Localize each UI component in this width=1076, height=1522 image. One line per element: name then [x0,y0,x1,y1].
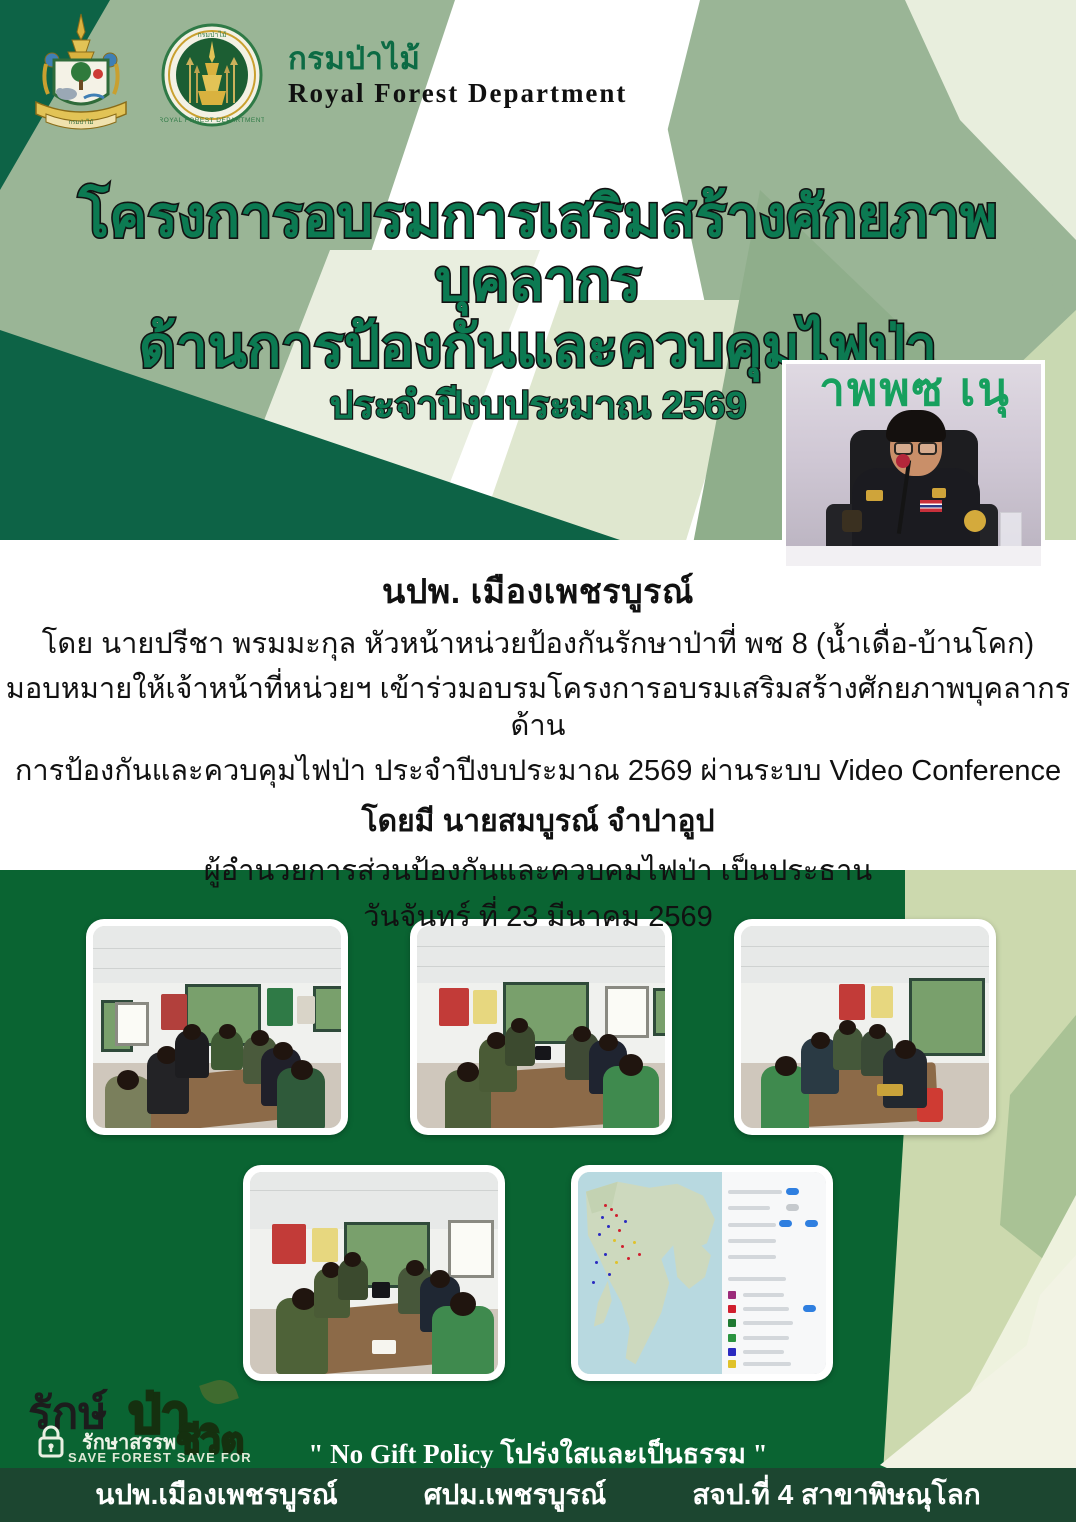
hotspot-dot [627,1257,630,1260]
legend-toggle[interactable] [786,1188,799,1195]
legend-row-label [743,1307,789,1311]
wall-poster-yellow [871,986,893,1018]
map-legend-panel [722,1172,826,1374]
legend-swatch [728,1319,736,1327]
wall-poster-red [272,1224,306,1264]
hotspot-dot [604,1253,607,1256]
portrait-rank-badge-left [866,490,883,501]
portrait-glasses-right [918,442,937,455]
legend-row-label [728,1206,770,1210]
chairperson-title: ผู้อำนวยการส่วนป้องกันและควบคมไฟป่า เป็น… [0,853,1076,890]
paper-document [372,1340,396,1354]
photo-5-content-hotspot-map [578,1172,826,1374]
royal-forest-department-seal-icon: กรมป่าไม้ ROYAL FOREST DEPARTMENT [160,23,264,127]
body-line-2: มอบหมายให้เจ้าหน้าที่หน่วยฯ เข้าร่วมอบรม… [0,671,1076,745]
gallery-photo-1[interactable] [86,919,348,1135]
ceiling-line [741,966,989,967]
person-head [157,1046,177,1064]
laptop [535,1046,551,1060]
hotspot-dot [621,1245,624,1248]
gallery-photo-4[interactable] [243,1165,505,1381]
wall-map [605,986,649,1038]
legend-row-label [743,1293,785,1297]
laptop [372,1282,390,1298]
gallery-photo-2[interactable] [410,919,672,1135]
person-head [487,1032,506,1049]
legend-swatch [728,1305,736,1313]
ceiling-line [93,948,341,949]
legend-toggle[interactable] [803,1305,816,1312]
wall-poster-red [161,994,187,1030]
person-head [457,1062,479,1082]
room-window-right [653,988,665,1036]
gallery-photo-3[interactable] [734,919,996,1135]
legend-swatch [728,1348,736,1356]
wall-poster-red [439,988,469,1026]
wall-poster-green [267,988,293,1026]
event-date: วันจันทร์ ที่ 23 มีนาคม 2569 [0,899,1076,936]
wall-poster-yellow [473,990,497,1024]
portrait-rank-badge-right [932,488,946,498]
footer-item-0: นปพ.เมืองเพชรบูรณ์ [95,1473,338,1517]
footer-item-2: สจป.ที่ 4 สาขาพิษณุโลก [692,1473,980,1517]
person-head [511,1018,528,1033]
photo-4-content [250,1172,498,1374]
legend-toggle[interactable] [805,1220,818,1227]
wall-poster-yellow [312,1228,338,1262]
chairperson-name: โดยมี นายสมบูรณ์ จำปาอูป [0,798,1076,845]
map-landmass [578,1172,722,1374]
leaf-icon [199,1375,239,1408]
person-head [219,1024,236,1039]
ceiling-line [417,946,665,947]
hotspot-dot [613,1239,616,1242]
person-head [839,1020,856,1035]
person-head [619,1054,643,1076]
person-head [273,1042,293,1060]
portrait-microphone-head [896,454,910,468]
legend-swatch [728,1291,736,1299]
svg-text:กรมป่าไม้: กรมป่าไม้ [197,30,226,39]
org-name-english: Royal Forest Department [288,79,627,107]
ceiling-line [250,1190,498,1191]
person-head [183,1024,201,1040]
wall-poster-red [839,984,865,1020]
person-head [291,1060,313,1080]
body-line-1: โดย นายปรีชา พรมมะกุล หัวหน้าหน่วยป้องกั… [0,626,1076,663]
person-head [450,1292,476,1316]
person-head [292,1288,316,1310]
header: กรมป่าไม้ กรมป่าไม้ ROYAL FOREST DEPA [0,0,1076,150]
photo-1-content [93,926,341,1128]
speaker-portrait-photo: าพพซ เนุ [786,364,1041,566]
person-head [573,1026,591,1042]
legend-swatch [728,1334,736,1342]
person-head [344,1252,361,1267]
royal-thai-garuda-crest-icon: กรมป่าไม้ [22,10,140,140]
person-head [117,1070,139,1090]
portrait-desk [786,546,1041,566]
announcement-text-block: นปพ. เมืองเพชรบูรณ์ โดย นายปรีชา พรมมะกุ… [0,540,1076,870]
title-line-1: โครงการอบรมการเสริมสร้างศักยภาพบุคลากร [0,186,1076,314]
ceiling-line [741,946,989,947]
legend-row-label [743,1350,785,1354]
photo-2-content [417,926,665,1128]
whiteboard [115,1002,149,1046]
photo-3-content [741,926,989,1128]
wall-noticeboard [297,996,315,1024]
body-line-3: การป้องกันและควบคุมไฟป่า ประจำปีงบประมาณ… [0,753,1076,790]
legend-row-label [743,1362,791,1366]
footer-bar: นปพ.เมืองเพชรบูรณ์ ศปม.เพชรบูรณ์ สจป.ที่… [0,1468,1076,1522]
person-head [599,1034,618,1051]
legend-swatch [728,1360,736,1368]
person-head [895,1040,916,1059]
map-canvas [578,1172,722,1374]
hotspot-dot [618,1229,621,1232]
person-head [251,1030,269,1046]
gallery-photo-5[interactable] [571,1165,833,1381]
hotspot-dot [607,1225,610,1228]
legend-row-label [743,1336,789,1340]
org-name-thai: กรมป่าไม้ [288,43,627,76]
legend-section-title [728,1277,786,1281]
legend-row-label [728,1190,782,1194]
hotspot-dot [598,1233,601,1236]
svg-text:กรมป่าไม้: กรมป่าไม้ [69,118,94,126]
portrait-shoulder-patch-right [964,510,986,532]
person-head [406,1260,424,1276]
legend-row-label [743,1321,793,1325]
rfd-vest-label [877,1084,903,1096]
organization-names: กรมป่าไม้ Royal Forest Department [288,43,627,108]
room-window-right [909,978,985,1056]
room-window-right [313,986,341,1032]
unit-name-heading: นปพ. เมืองเพชรบูรณ์ [0,564,1076,618]
ceiling-line [93,968,341,969]
legend-row-label [728,1255,776,1259]
person-head [775,1056,797,1076]
portrait-thai-flag-patch [920,500,942,512]
person-head [430,1270,450,1288]
legend-row-label [728,1223,776,1227]
portrait-shoulder-patch-left [842,510,862,532]
person-green-shirt [432,1306,494,1374]
legend-toggle[interactable] [786,1204,799,1211]
legend-row-label [728,1239,776,1243]
wall-map [448,1220,494,1278]
person-head [869,1024,886,1039]
footer-item-1: ศปม.เพชรบูรณ์ [424,1473,607,1517]
ceiling-line [417,966,665,967]
legend-toggle[interactable] [779,1220,792,1227]
portrait-wall-text: าพพซ เนุ [786,366,1041,412]
poster-root: กรมป่าไม้ กรมป่าไม้ ROYAL FOREST DEPA [0,0,1076,1522]
person-head [811,1032,830,1049]
hotspot-dot [633,1241,636,1244]
svg-text:ROYAL FOREST DEPARTMENT: ROYAL FOREST DEPARTMENT [160,117,264,124]
